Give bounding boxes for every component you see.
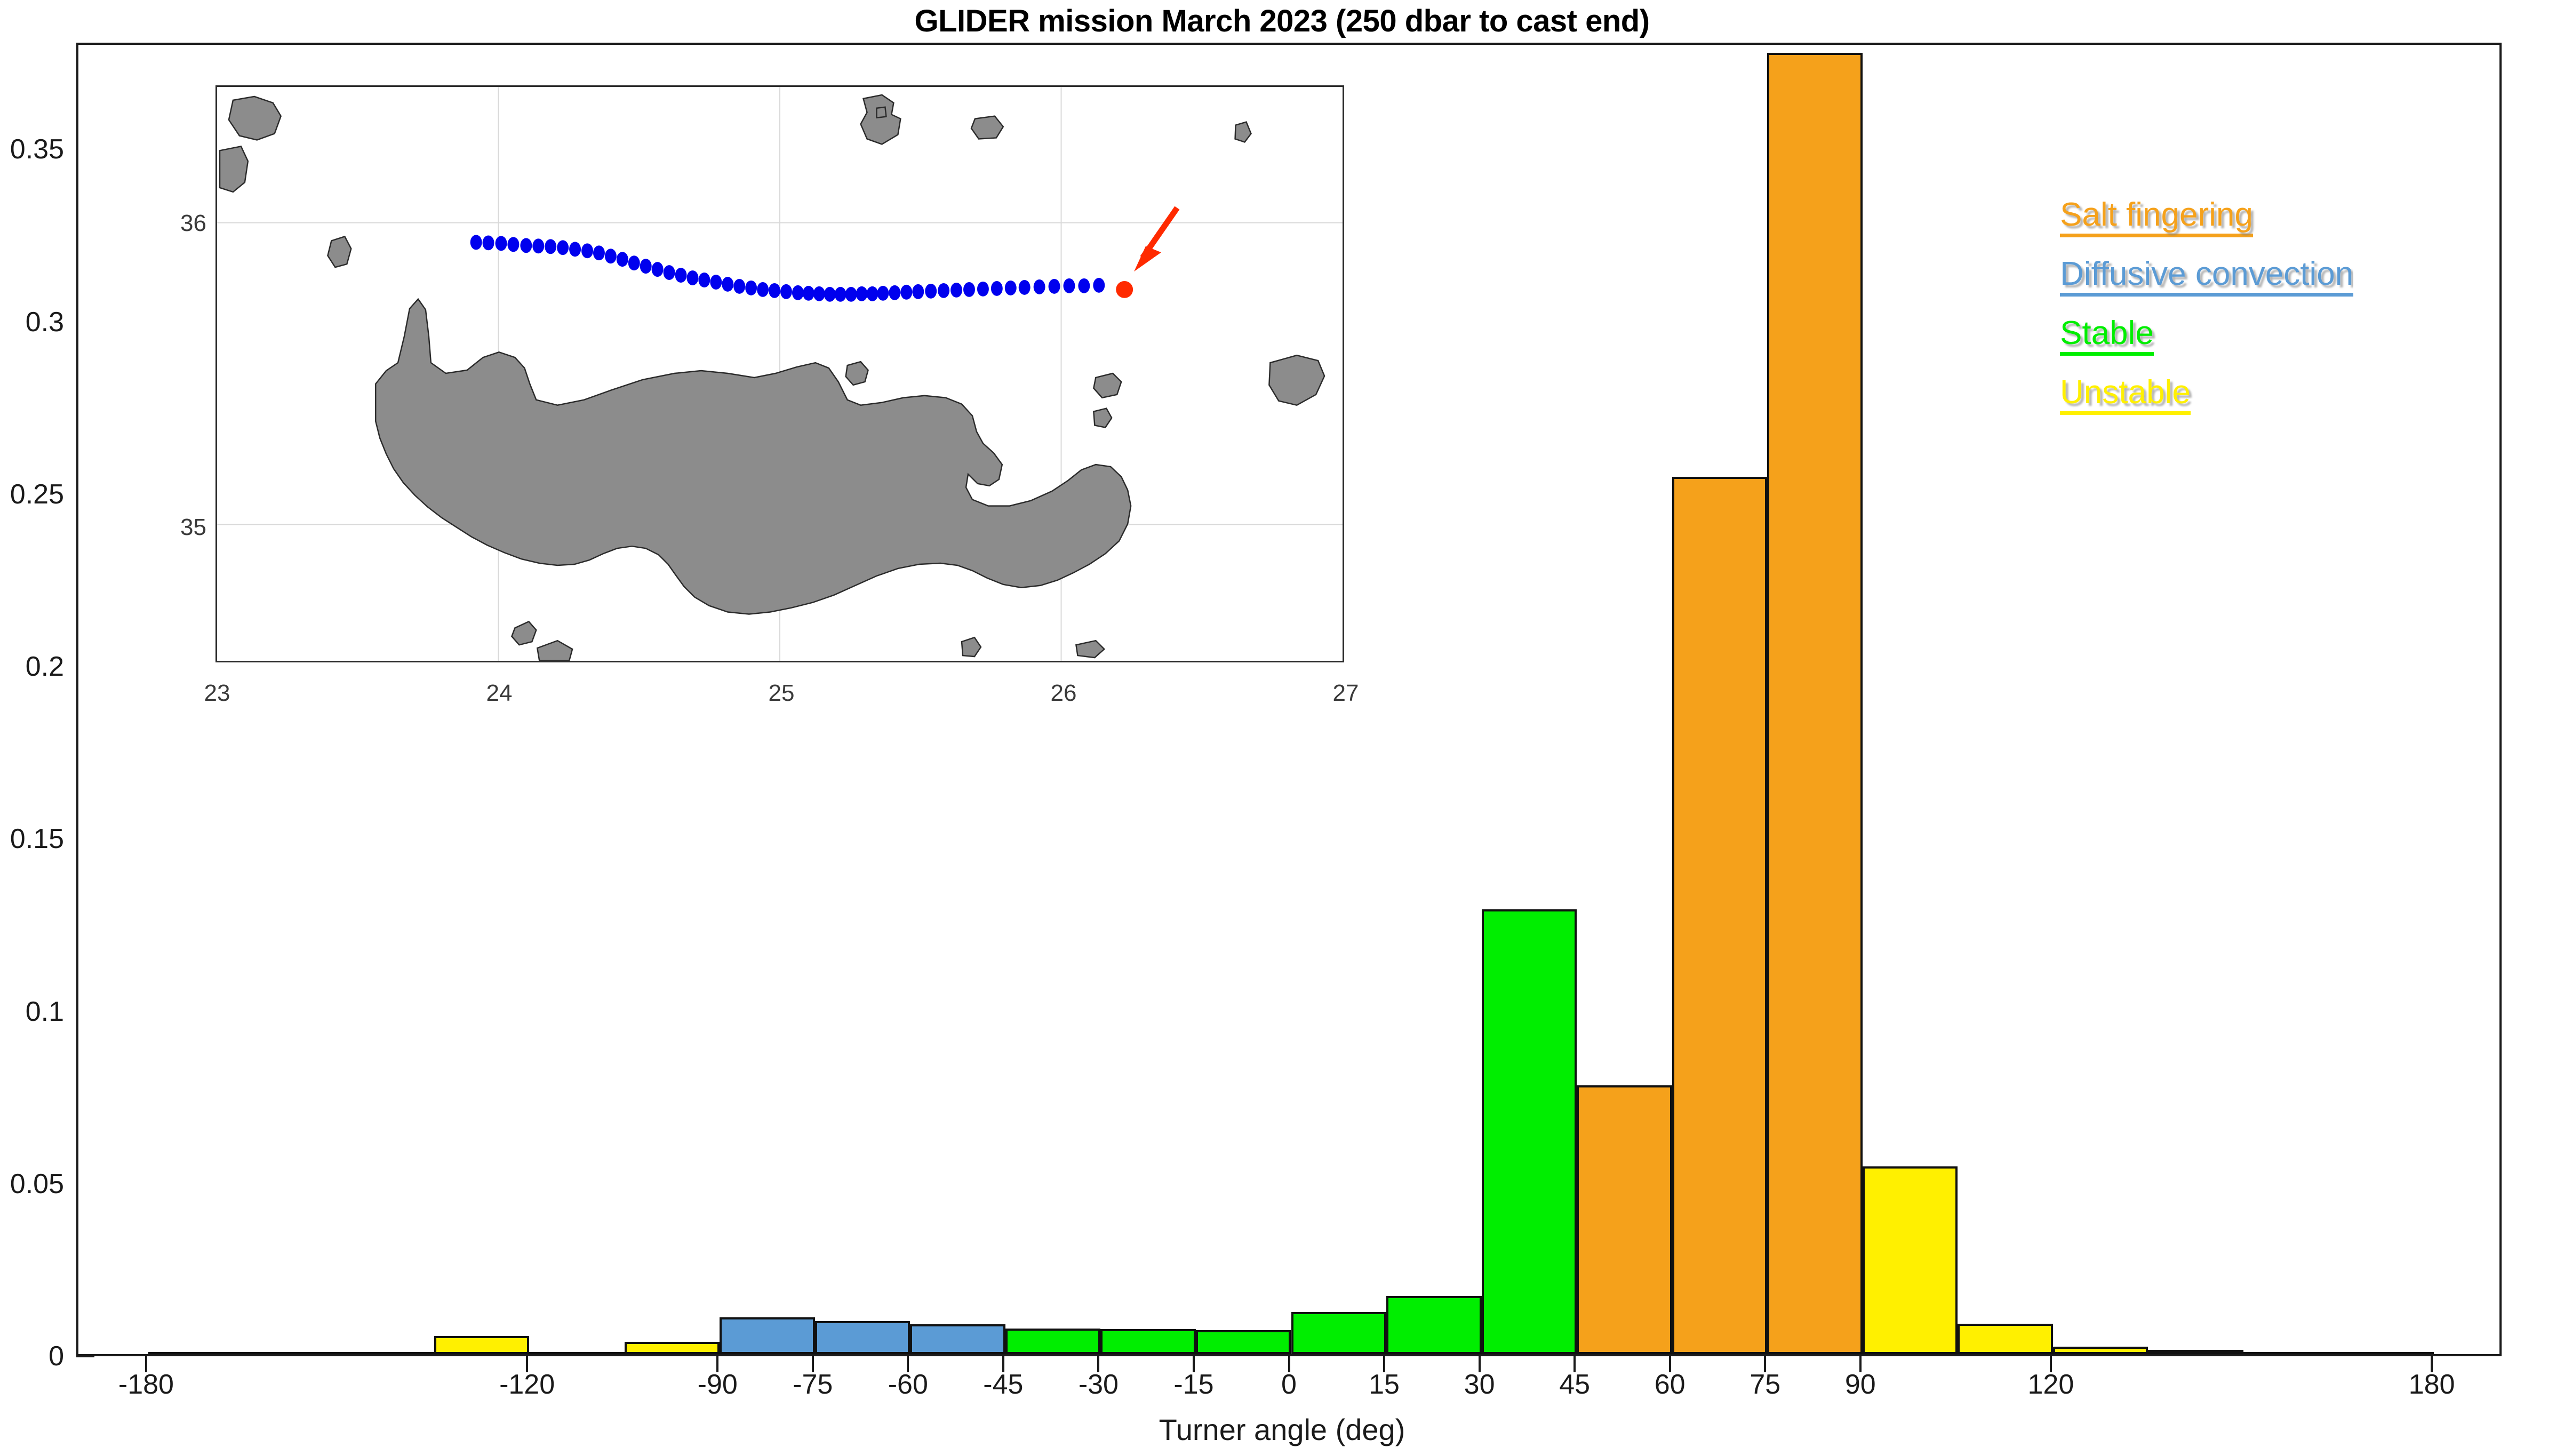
legend-item-stable: Stable bbox=[2060, 317, 2154, 356]
x-axis-tick bbox=[526, 1356, 528, 1372]
x-axis-tick bbox=[1193, 1356, 1195, 1372]
inset-x-tick-label: 27 bbox=[1333, 680, 1359, 707]
histogram-bar bbox=[243, 1352, 339, 1354]
x-axis-tick bbox=[812, 1356, 814, 1372]
y-axis-tick-label: 0.1 bbox=[0, 996, 64, 1028]
histogram-bar bbox=[910, 1324, 1005, 1354]
x-axis-tick bbox=[1383, 1356, 1385, 1372]
legend: Salt fingering Diffusive convection Stab… bbox=[2060, 198, 2353, 435]
histogram-bar bbox=[1958, 1324, 2053, 1354]
inset-map: 2324252627 3536 bbox=[215, 85, 1344, 662]
histogram-bar bbox=[434, 1336, 530, 1354]
histogram-bar bbox=[2339, 1352, 2434, 1354]
last-cast-marker bbox=[1116, 281, 1133, 298]
x-axis-tick bbox=[1479, 1356, 1481, 1372]
legend-item-unstable: Unstable bbox=[2060, 376, 2191, 415]
arrow-annotation bbox=[1134, 208, 1177, 271]
histogram-bar bbox=[529, 1352, 625, 1354]
x-axis-tick-label: -15 bbox=[1173, 1369, 1213, 1401]
x-axis-tick bbox=[1097, 1356, 1099, 1372]
x-axis-tick-label: 60 bbox=[1655, 1369, 1686, 1401]
x-axis-tick-label: 0 bbox=[1281, 1369, 1297, 1401]
x-axis-tick bbox=[2431, 1356, 2433, 1372]
x-axis-tick-label: 180 bbox=[2409, 1369, 2455, 1401]
histogram-bar bbox=[1672, 477, 1768, 1354]
x-axis-tick bbox=[1764, 1356, 1766, 1372]
histogram-bar bbox=[1005, 1329, 1101, 1354]
x-axis-tick-label: 90 bbox=[1845, 1369, 1876, 1401]
histogram-bar bbox=[2053, 1347, 2148, 1354]
x-axis-tick-label: 75 bbox=[1750, 1369, 1780, 1401]
histogram-bar bbox=[2243, 1352, 2339, 1354]
histogram-bar bbox=[2148, 1350, 2243, 1354]
x-axis-tick bbox=[716, 1356, 718, 1372]
inset-x-tick-label: 26 bbox=[1051, 680, 1077, 707]
histogram-bar bbox=[1291, 1312, 1387, 1354]
x-axis-tick-label: -60 bbox=[888, 1369, 928, 1401]
x-axis-tick bbox=[1669, 1356, 1671, 1372]
legend-item-diffusive-convection: Diffusive convection bbox=[2060, 258, 2353, 297]
y-axis-tick-label: 0 bbox=[0, 1340, 64, 1372]
y-axis-tick-label: 0.15 bbox=[0, 823, 64, 855]
inset-x-tick-label: 25 bbox=[769, 680, 795, 707]
histogram-bar bbox=[1577, 1085, 1672, 1354]
x-axis-tick bbox=[2050, 1356, 2052, 1372]
x-axis-tick bbox=[145, 1356, 147, 1372]
x-axis-tick bbox=[1002, 1356, 1004, 1372]
x-axis-tick-label: 120 bbox=[2027, 1369, 2074, 1401]
legend-item-salt-fingering: Salt fingering bbox=[2060, 198, 2253, 237]
inset-map-svg bbox=[217, 87, 1343, 661]
y-axis-tick-label: 0.35 bbox=[0, 133, 64, 165]
x-axis-tick-label: 15 bbox=[1369, 1369, 1400, 1401]
page-title: GLIDER mission March 2023 (250 dbar to c… bbox=[0, 3, 2564, 39]
x-axis-tick bbox=[1573, 1356, 1576, 1372]
glider-track-points bbox=[470, 235, 1105, 301]
x-axis-tick-label: -30 bbox=[1079, 1369, 1119, 1401]
histogram-bar bbox=[1196, 1330, 1291, 1354]
histogram-bar bbox=[720, 1317, 815, 1354]
land-polygons bbox=[220, 95, 1324, 661]
inset-x-tick-label: 23 bbox=[204, 680, 230, 707]
histogram-bar bbox=[815, 1321, 910, 1354]
x-axis-tick-label: -45 bbox=[983, 1369, 1023, 1401]
x-axis-tick-label: 30 bbox=[1464, 1369, 1495, 1401]
histogram-bar bbox=[339, 1352, 434, 1354]
y-axis-tick-label: 0.25 bbox=[0, 478, 64, 510]
x-axis-tick bbox=[907, 1356, 909, 1372]
histogram-bar bbox=[1863, 1166, 1958, 1354]
histogram-bar bbox=[1386, 1296, 1482, 1354]
inset-x-tick-label: 24 bbox=[486, 680, 513, 707]
histogram-bar bbox=[148, 1352, 244, 1354]
histogram-bar bbox=[1767, 53, 1863, 1354]
x-axis-tick-label: -180 bbox=[118, 1369, 174, 1401]
x-axis-title: Turner angle (deg) bbox=[0, 1412, 2564, 1447]
y-axis-tick-label: 0.05 bbox=[0, 1168, 64, 1200]
histogram-bar bbox=[1100, 1329, 1196, 1354]
y-axis-tick-label: 0.2 bbox=[0, 651, 64, 683]
histogram-bar bbox=[625, 1342, 720, 1354]
x-axis-tick-label: -120 bbox=[499, 1369, 555, 1401]
x-axis-tick bbox=[1859, 1356, 1862, 1372]
inset-y-tick-label: 35 bbox=[169, 514, 206, 541]
x-axis-tick-label: -75 bbox=[793, 1369, 833, 1401]
inset-y-tick-label: 36 bbox=[169, 210, 206, 237]
figure-container: GLIDER mission March 2023 (250 dbar to c… bbox=[0, 0, 2564, 1456]
histogram-bar bbox=[1482, 909, 1577, 1354]
x-axis-tick-label: 45 bbox=[1559, 1369, 1590, 1401]
x-axis-tick-label: -90 bbox=[698, 1369, 738, 1401]
y-axis-tick-label: 0.3 bbox=[0, 306, 64, 338]
x-axis-tick bbox=[1288, 1356, 1290, 1372]
